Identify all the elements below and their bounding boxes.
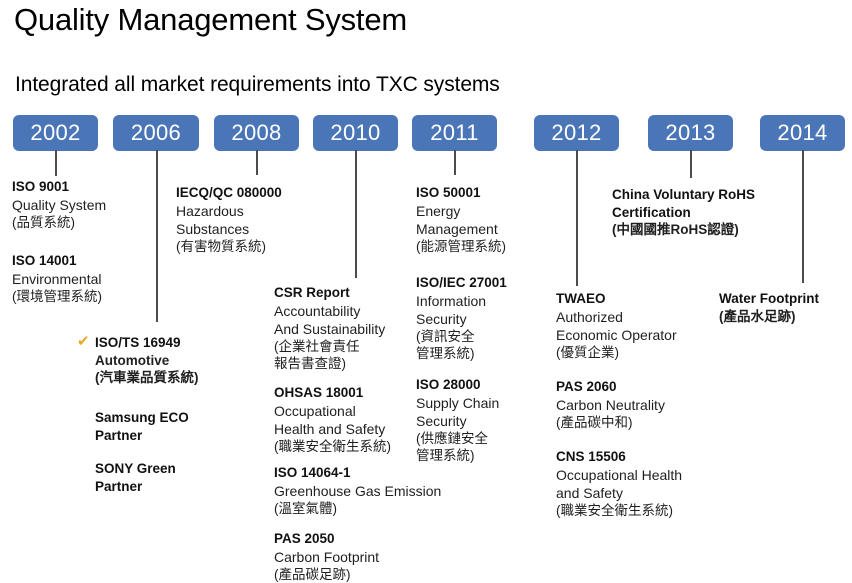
entry-csr-report-line-4: 報告書查證) (274, 355, 385, 373)
entry-iso-ts-16949-line-1: Automotive (95, 352, 199, 370)
entry-iso-50001: ISO 50001EnergyManagement(能源管理系統) (416, 184, 506, 255)
entry-ohsas-18001: OHSAS 18001OccupationalHealth and Safety… (274, 384, 391, 455)
entry-sony-green-partner-line-0: SONY Green (95, 460, 176, 478)
slide-canvas: Quality Management System Integrated all… (0, 0, 852, 583)
entry-iso-28000-line-3: (供應鏈安全 (416, 430, 499, 448)
entry-pas-2060-line-0: PAS 2060 (556, 378, 665, 396)
entry-iso-50001-line-1: Energy (416, 202, 506, 220)
entry-cns-15506: CNS 15506Occupational Healthand Safety(職… (556, 448, 682, 519)
entry-ohsas-18001-line-1: Occupational (274, 402, 391, 420)
connector-line-2014 (802, 150, 804, 283)
year-chip-2010[interactable]: 2010 (313, 115, 398, 151)
entry-china-voluntary-rohs-line-1: Certification (612, 204, 755, 222)
entry-iso-50001-line-3: (能源管理系統) (416, 238, 506, 256)
entry-iso-28000: ISO 28000Supply ChainSecurity(供應鏈安全管理系統) (416, 376, 499, 465)
entry-twaeo-line-1: Authorized (556, 308, 677, 326)
entry-ohsas-18001-line-2: Health and Safety (274, 420, 391, 438)
entry-iso-28000-line-2: Security (416, 412, 499, 430)
entry-twaeo-line-2: Economic Operator (556, 326, 677, 344)
entry-iecq-qc-080000-line-1: Hazardous (176, 202, 282, 220)
year-chip-2014[interactable]: 2014 (760, 115, 845, 151)
entry-iso-14001: ISO 14001Environmental(環境管理系統) (12, 252, 102, 305)
connector-line-2002 (55, 150, 57, 176)
entry-iso-9001-line-0: ISO 9001 (12, 178, 106, 196)
entry-pas-2060-line-1: Carbon Neutrality (556, 396, 665, 414)
entry-twaeo-line-3: (優質企業) (556, 344, 677, 362)
entry-samsung-eco-partner-line-1: Partner (95, 427, 189, 445)
check-icon: ✔ (77, 335, 91, 349)
entry-iecq-qc-080000: IECQ/QC 080000HazardousSubstances(有害物質系統… (176, 184, 282, 255)
entry-iso-9001-line-2: (品質系統) (12, 214, 106, 232)
entry-china-voluntary-rohs: China Voluntary RoHSCertification(中國國推Ro… (612, 186, 755, 239)
entry-iso-14064-1-line-2: (溫室氣體) (274, 500, 441, 518)
entry-iso-ts-16949-line-2: (汽車業品質系統) (95, 369, 199, 387)
entry-iecq-qc-080000-line-0: IECQ/QC 080000 (176, 184, 282, 202)
entry-iso-50001-line-0: ISO 50001 (416, 184, 506, 202)
entry-china-voluntary-rohs-line-2: (中國國推RoHS認證) (612, 221, 755, 239)
year-chip-2011[interactable]: 2011 (412, 115, 497, 151)
entry-csr-report-line-0: CSR Report (274, 284, 385, 302)
entry-iecq-qc-080000-line-2: Substances (176, 220, 282, 238)
entry-pas-2060: PAS 2060Carbon Neutrality(產品碳中和) (556, 378, 665, 431)
entry-iso-28000-line-0: ISO 28000 (416, 376, 499, 394)
entry-samsung-eco-partner: Samsung ECOPartner (95, 409, 189, 444)
entry-water-footprint-line-0: Water Footprint (719, 290, 819, 308)
entry-iso-9001: ISO 9001Quality System(品質系統) (12, 178, 106, 231)
entry-iso-iec-27001-line-4: 管理系統) (416, 345, 507, 363)
entry-twaeo: TWAEOAuthorizedEconomic Operator(優質企業) (556, 290, 677, 361)
entry-iso-iec-27001-line-1: Information (416, 292, 507, 310)
entry-pas-2050-line-0: PAS 2050 (274, 530, 379, 548)
entry-cns-15506-line-2: and Safety (556, 484, 682, 502)
entry-water-footprint-line-1: (產品水足跡) (719, 308, 819, 326)
entry-iso-14001-line-2: (環境管理系統) (12, 288, 102, 306)
entry-pas-2050-line-1: Carbon Footprint (274, 548, 379, 566)
year-chip-2008[interactable]: 2008 (214, 115, 299, 151)
entry-iso-ts-16949-line-0: ISO/TS 16949 (95, 334, 199, 352)
entry-water-footprint: Water Footprint(產品水足跡) (719, 290, 819, 325)
entry-sony-green-partner: SONY GreenPartner (95, 460, 176, 495)
year-chip-2012[interactable]: 2012 (534, 115, 619, 151)
entry-pas-2050-line-2: (產品碳足跡) (274, 566, 379, 583)
entry-cns-15506-line-3: (職業安全衛生系統) (556, 502, 682, 520)
year-chip-2002[interactable]: 2002 (13, 115, 98, 151)
connector-line-2006 (156, 150, 158, 322)
entry-china-voluntary-rohs-line-0: China Voluntary RoHS (612, 186, 755, 204)
entry-iso-iec-27001-line-3: (資訊安全 (416, 328, 507, 346)
entry-iso-28000-line-1: Supply Chain (416, 394, 499, 412)
entry-iso-14064-1: ISO 14064-1Greenhouse Gas Emission(溫室氣體) (274, 464, 441, 517)
connector-line-2008 (256, 150, 258, 175)
entry-iso-9001-line-1: Quality System (12, 196, 106, 214)
entry-iso-14001-line-1: Environmental (12, 270, 102, 288)
entry-iso-14001-line-0: ISO 14001 (12, 252, 102, 270)
year-chip-2013[interactable]: 2013 (648, 115, 733, 151)
entry-csr-report: CSR ReportAccountabilityAnd Sustainabili… (274, 284, 385, 373)
entry-iso-14064-1-line-0: ISO 14064-1 (274, 464, 441, 482)
entry-pas-2050: PAS 2050Carbon Footprint(產品碳足跡) (274, 530, 379, 583)
connector-line-2010 (355, 150, 357, 278)
entry-iecq-qc-080000-line-3: (有害物質系統) (176, 238, 282, 256)
entry-iso-28000-line-4: 管理系統) (416, 447, 499, 465)
entry-iso-ts-16949: ✔ISO/TS 16949Automotive(汽車業品質系統) (95, 334, 199, 387)
entry-csr-report-line-2: And Sustainability (274, 320, 385, 338)
entry-csr-report-line-3: (企業社會責任 (274, 338, 385, 356)
entry-iso-50001-line-2: Management (416, 220, 506, 238)
entry-twaeo-line-0: TWAEO (556, 290, 677, 308)
entry-pas-2060-line-2: (產品碳中和) (556, 414, 665, 432)
entry-sony-green-partner-line-1: Partner (95, 478, 176, 496)
entry-iso-iec-27001-line-2: Security (416, 310, 507, 328)
year-chip-2006[interactable]: 2006 (113, 115, 199, 151)
entry-cns-15506-line-1: Occupational Health (556, 466, 682, 484)
entry-csr-report-line-1: Accountability (274, 302, 385, 320)
entry-ohsas-18001-line-3: (職業安全衛生系統) (274, 438, 391, 456)
connector-line-2012 (576, 150, 578, 286)
entry-iso-iec-27001-line-0: ISO/IEC 27001 (416, 274, 507, 292)
connector-line-2013 (690, 150, 692, 178)
entry-cns-15506-line-0: CNS 15506 (556, 448, 682, 466)
page-title: Quality Management System (14, 2, 407, 38)
entry-samsung-eco-partner-line-0: Samsung ECO (95, 409, 189, 427)
entry-ohsas-18001-line-0: OHSAS 18001 (274, 384, 391, 402)
entry-iso-14064-1-line-1: Greenhouse Gas Emission (274, 482, 441, 500)
connector-line-2011 (454, 150, 456, 175)
entry-iso-iec-27001: ISO/IEC 27001InformationSecurity(資訊安全管理系… (416, 274, 507, 363)
page-subtitle: Integrated all market requirements into … (15, 73, 500, 97)
